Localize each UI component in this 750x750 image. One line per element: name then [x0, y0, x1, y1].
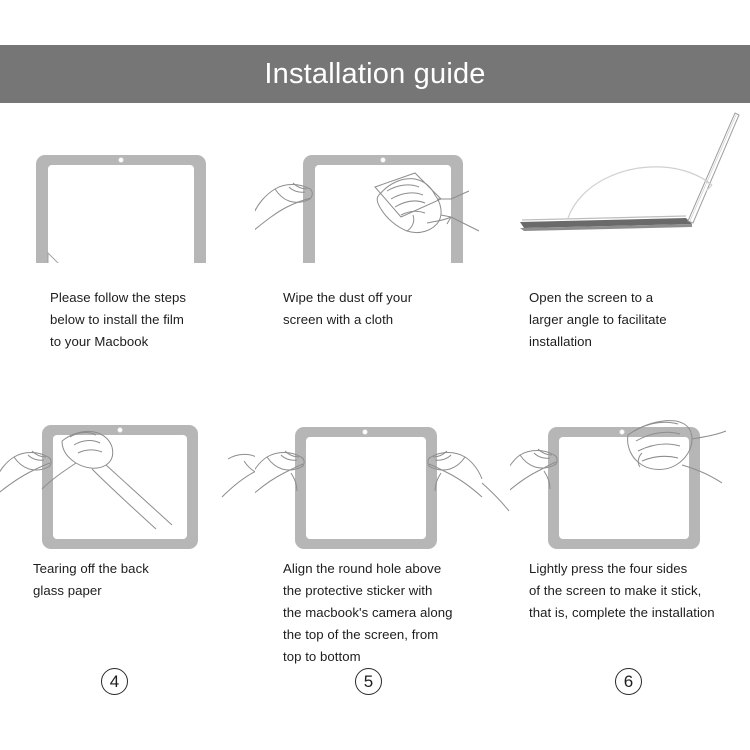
laptop-base-icon: [520, 216, 692, 231]
illustration-step-2: [255, 103, 510, 258]
step-number-5: 5: [355, 668, 382, 695]
illustration-step-5: [255, 413, 510, 568]
illustration-step-1: [0, 103, 255, 258]
step-caption-6: Lightly press the four sides of the scre…: [529, 558, 715, 624]
laptop-lid-icon: [688, 113, 739, 223]
installation-guide-page: Installation guide: [0, 0, 750, 750]
tablet-frame-icon: [42, 425, 198, 549]
step-number-4: 4: [101, 668, 128, 695]
step-cell-1: Please follow the steps below to install…: [0, 103, 255, 413]
illustration-step-4: [0, 413, 255, 568]
partial-hand-icon: [222, 454, 255, 497]
tablet-frame-icon: [36, 155, 206, 263]
step-caption-5: Align the round hole above the protectiv…: [283, 558, 453, 668]
pinching-hand-right-icon: [428, 451, 509, 511]
illustration-step-6: [510, 413, 750, 568]
step-number-6: 6: [615, 668, 642, 695]
step-cell-4: Tearing off the back glass paper 4: [0, 413, 255, 723]
header-band: Installation guide: [0, 45, 750, 103]
step-caption-3: Open the screen to a larger angle to fac…: [529, 287, 667, 353]
illustration-step-3: [510, 103, 750, 258]
step-caption-4: Tearing off the back glass paper: [33, 558, 149, 602]
tablet-frame-icon: [303, 155, 463, 263]
step-cell-2: Wipe the dust off your screen with a clo…: [255, 103, 510, 413]
page-title: Installation guide: [264, 60, 485, 89]
step-caption-1: Please follow the steps below to install…: [50, 287, 186, 353]
tablet-frame-icon: [295, 427, 437, 549]
step-cell-6: Lightly press the four sides of the scre…: [510, 413, 750, 723]
steps-grid: Please follow the steps below to install…: [0, 103, 750, 750]
step-caption-2: Wipe the dust off your screen with a clo…: [283, 287, 412, 331]
step-cell-3: Open the screen to a larger angle to fac…: [510, 103, 750, 413]
open-angle-arc-icon: [568, 167, 712, 218]
step-cell-5: Align the round hole above the protectiv…: [255, 413, 510, 723]
